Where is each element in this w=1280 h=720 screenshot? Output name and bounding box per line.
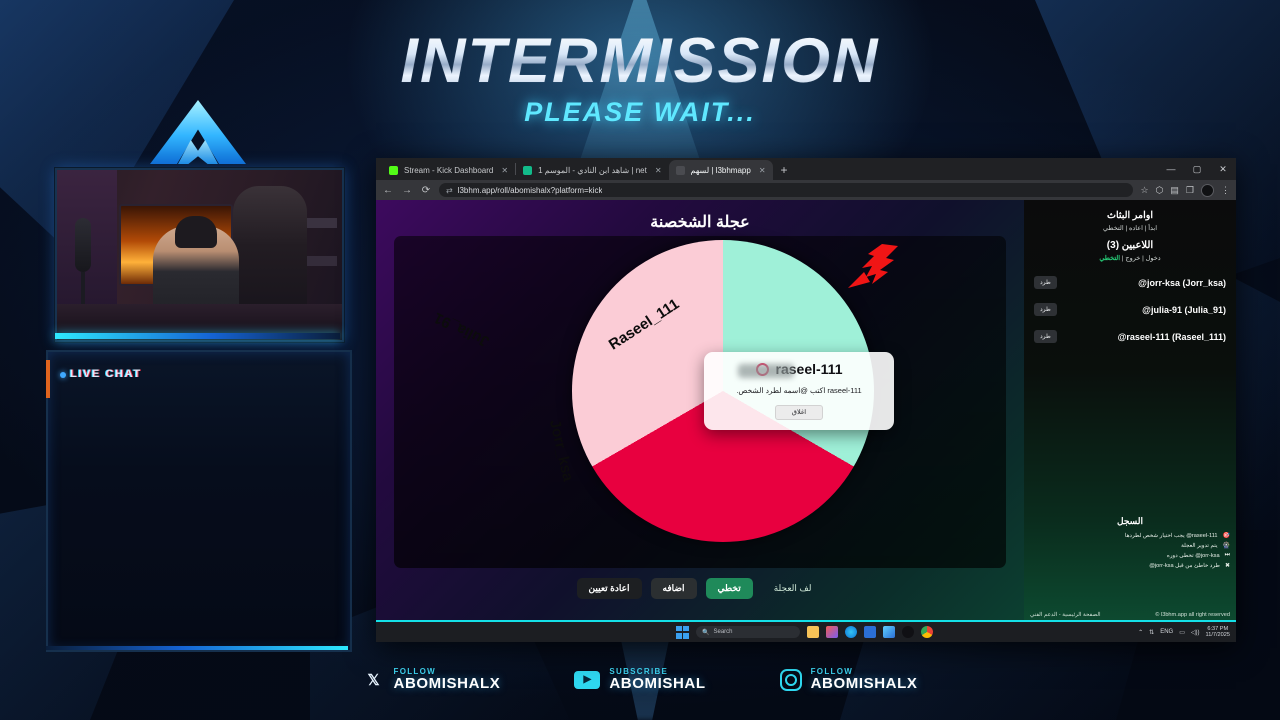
star-icon[interactable]: ☆: [1140, 185, 1148, 196]
wheel-controls: لف العجلة تخطي اضافه اعادة تعيين: [390, 578, 1010, 599]
log-row: 🎯 raseel-111@ يجب اختيار شخص لطردها: [1030, 532, 1230, 539]
dark-favicon: [676, 166, 685, 175]
tab-label: Stream - Kick Dashboard: [404, 166, 493, 175]
spin-wheel-button[interactable]: لف العجلة: [762, 578, 824, 599]
skip-button[interactable]: تخطي: [706, 578, 753, 599]
footer-copyright: l3bhm.app all right reserved ©: [1155, 612, 1230, 618]
language-indicator[interactable]: ENG: [1160, 629, 1173, 635]
close-button[interactable]: ✕: [1210, 158, 1236, 180]
microphone-icon: [75, 218, 91, 272]
log-text: يتم تدوير العجلة: [1181, 543, 1217, 549]
tab-label: لسهم | l3bhmapp: [691, 166, 751, 175]
spin-label: لف العجلة: [774, 583, 812, 593]
network-icon[interactable]: ⇅: [1149, 629, 1154, 636]
kick-favicon: [389, 166, 398, 175]
x-twitter-icon: 𝕏: [363, 669, 385, 691]
broadcaster-commands-title: اوامر البثاث: [1032, 210, 1228, 221]
footer-links[interactable]: الصفحة الرئيسية - الدعم الفني: [1030, 612, 1101, 618]
browser-window: Stream - Kick Dashboard ✕ شاهد ابن الناد…: [376, 158, 1236, 642]
instagram-icon: [780, 669, 802, 691]
wheel-pointer-icon: [846, 244, 900, 292]
tab-close-icon[interactable]: ✕: [655, 166, 662, 175]
players-title: اللاعبين (3): [1032, 240, 1228, 251]
player-row: jorr-ksa (Jorr_ksa)@ طرد: [1032, 276, 1228, 289]
search-icon: 🔍: [702, 629, 709, 636]
log-target-icon: 🎯: [1223, 532, 1230, 539]
tab-label: شاهد ابن النادي - الموسم 1 | net: [538, 166, 647, 175]
add-button[interactable]: اضافه: [651, 578, 697, 599]
profile-avatar[interactable]: [1201, 184, 1214, 197]
log-row: 🎡 يتم تدوير العجلة: [1030, 542, 1230, 549]
log-row: ⏭ jorr-ksa@ تخطى دوره: [1030, 552, 1230, 559]
social-instagram-handle: ABOMISHALX: [811, 676, 918, 692]
player-row: raseel-111 (Raseel_111)@ طرد: [1032, 330, 1228, 343]
window-controls: — ▢ ✕: [1158, 158, 1236, 180]
editor-icon[interactable]: [883, 626, 895, 638]
slice-label-jorr: Jorr_ksa: [546, 418, 577, 483]
player-row: julia-91 (Julia_91)@ طرد: [1032, 303, 1228, 316]
battery-icon[interactable]: ▭: [1179, 629, 1185, 636]
toast-close-button[interactable]: اغلاق: [775, 405, 823, 420]
channel-logo-icon: [150, 100, 246, 164]
split-view-icon[interactable]: ❐: [1186, 185, 1194, 196]
log-text: raseel-111@ يجب اختيار شخص لطردها: [1125, 533, 1218, 539]
tab-close-icon[interactable]: ✕: [759, 166, 766, 175]
edge-icon[interactable]: [845, 626, 857, 638]
social-x: 𝕏 FOLLOW ABOMISHALX: [363, 668, 501, 692]
youtube-icon: ▶: [574, 671, 600, 689]
live-chat-panel: LIVE CHAT: [46, 350, 352, 652]
kick-player-button[interactable]: طرد: [1034, 303, 1057, 316]
menu-icon[interactable]: ⋮: [1221, 185, 1230, 196]
chat-accent-bar: [46, 360, 50, 398]
kick-player-button[interactable]: طرد: [1034, 330, 1057, 343]
player-name-raseel: raseel-111 (Raseel_111)@: [1118, 332, 1226, 342]
webcam-underline: [55, 333, 340, 339]
extensions-icon[interactable]: ⬡: [1156, 185, 1164, 196]
taskbar-center: 🔍 Search: [676, 626, 933, 639]
log-text: طرد خاطئ من قبل jorr-ksa@: [1149, 563, 1220, 569]
windows-taskbar: 🔍 Search ⌃ ⇅ ENG ▭ ◁)) 6:37 PM 11/7/2025: [376, 622, 1236, 642]
back-icon[interactable]: ←: [382, 185, 394, 196]
toast-message: raseel-111 اكتب @اسمه لطرد الشخص.: [712, 386, 886, 396]
log-skip-icon: ⏭: [1225, 552, 1230, 559]
taskbar-tray: ⌃ ⇅ ENG ▭ ◁)) 6:37 PM 11/7/2025: [1138, 626, 1230, 639]
taskbar-clock[interactable]: 6:37 PM 11/7/2025: [1206, 626, 1230, 639]
browser-tab-series[interactable]: شاهد ابن النادي - الموسم 1 | net ✕: [516, 160, 668, 180]
side-panel-icon[interactable]: ▤: [1170, 185, 1179, 196]
file-explorer-icon[interactable]: [807, 626, 819, 638]
live-chat-label: LIVE CHAT: [70, 368, 142, 380]
tab-close-icon[interactable]: ✕: [501, 166, 508, 175]
log-error-icon: ✖: [1225, 562, 1230, 569]
forward-icon[interactable]: →: [401, 185, 413, 196]
browser-tab-kick[interactable]: Stream - Kick Dashboard ✕: [382, 160, 515, 180]
green-favicon: [523, 166, 532, 175]
log-list: 🎯 raseel-111@ يجب اختيار شخص لطردها 🎡 يت…: [1030, 532, 1230, 578]
blurred-avatar-area: [738, 364, 794, 378]
reload-icon[interactable]: ⟳: [420, 185, 432, 196]
url-text: l3bhm.app/roll/abomishalx?platform=kick: [458, 186, 603, 195]
live-indicator-icon: [60, 372, 66, 378]
photos-icon[interactable]: [826, 626, 838, 638]
player-name-jorr: jorr-ksa (Jorr_ksa)@: [1138, 278, 1226, 288]
windows-start-icon[interactable]: [676, 626, 689, 639]
browser-toolbar: ← → ⟳ ⇄ l3bhm.app/roll/abomishalx?platfo…: [376, 180, 1236, 200]
log-row: ✖ طرد خاطئ من قبل jorr-ksa@: [1030, 562, 1230, 569]
social-x-handle: ABOMISHALX: [394, 676, 501, 692]
social-youtube: ▶ SUBSCRIBE ABOMISHAL: [574, 668, 705, 692]
new-tab-button[interactable]: +: [773, 160, 796, 180]
slice-label-julia: Julia_91: [431, 309, 492, 350]
address-bar[interactable]: ⇄ l3bhm.app/roll/abomishalx?platform=kic…: [439, 183, 1133, 197]
reset-button[interactable]: اعادة تعيين: [577, 578, 642, 599]
webcam-feed: [57, 170, 342, 340]
minimize-button[interactable]: —: [1158, 158, 1184, 180]
page-content: عجلة الشخصنة Raseel_111 Julia_91 Jorr_ks…: [376, 200, 1236, 622]
social-instagram: FOLLOW ABOMISHALX: [780, 668, 918, 692]
site-settings-icon[interactable]: ⇄: [446, 186, 453, 195]
social-youtube-handle: ABOMISHAL: [609, 676, 705, 692]
social-bar: 𝕏 FOLLOW ABOMISHALX ▶ SUBSCRIBE ABOMISHA…: [0, 660, 1280, 700]
store-icon[interactable]: [864, 626, 876, 638]
sidebar-footer: l3bhm.app all right reserved © الصفحة ال…: [1030, 612, 1230, 618]
wheel-stage: Raseel_111 Julia_91 Jorr_ksa raseel-111: [394, 236, 1006, 568]
intermission-title: INTERMISSION: [0, 30, 1280, 93]
game-sidebar: اوامر البثاث ابدأ | اعاده | التخطي اللاع…: [1024, 200, 1236, 622]
chrome-icon[interactable]: [921, 626, 933, 638]
kick-notification-modal: raseel-111 raseel-111 اكتب @اسمه لطرد ال…: [704, 352, 894, 430]
search-placeholder: Search: [713, 629, 732, 635]
wheel-area: عجلة الشخصنة Raseel_111 Julia_91 Jorr_ks…: [376, 200, 1024, 622]
maximize-button[interactable]: ▢: [1184, 158, 1210, 180]
browser-tab-l3bhmapp[interactable]: لسهم | l3bhmapp ✕: [669, 160, 773, 180]
kick-icon[interactable]: [902, 626, 914, 638]
volume-icon[interactable]: ◁)): [1191, 629, 1200, 636]
log-text: jorr-ksa@ تخطى دوره: [1167, 553, 1220, 559]
log-title: السجل: [1024, 516, 1236, 527]
page-title: عجلة الشخصنة: [390, 212, 1010, 232]
taskbar-search-box[interactable]: 🔍 Search: [696, 626, 800, 638]
log-wheel-icon: 🎡: [1223, 542, 1230, 549]
clock-date: 11/7/2025: [1206, 632, 1230, 638]
players-cmds-prefix: دخول | خروج |: [1120, 255, 1161, 262]
players-cmds-accent: التخطي: [1099, 255, 1120, 262]
broadcaster-commands-list: ابدأ | اعاده | التخطي: [1032, 224, 1228, 232]
chat-bottom-accent: [46, 646, 348, 650]
webcam-panel: [55, 168, 344, 342]
kick-player-button[interactable]: طرد: [1034, 276, 1057, 289]
chevron-up-icon[interactable]: ⌃: [1138, 629, 1143, 636]
players-commands-list: دخول | خروج | التخطي: [1032, 254, 1228, 262]
browser-tabstrip: Stream - Kick Dashboard ✕ شاهد ابن الناد…: [376, 158, 1236, 180]
player-name-julia: julia-91 (Julia_91)@: [1142, 305, 1226, 315]
